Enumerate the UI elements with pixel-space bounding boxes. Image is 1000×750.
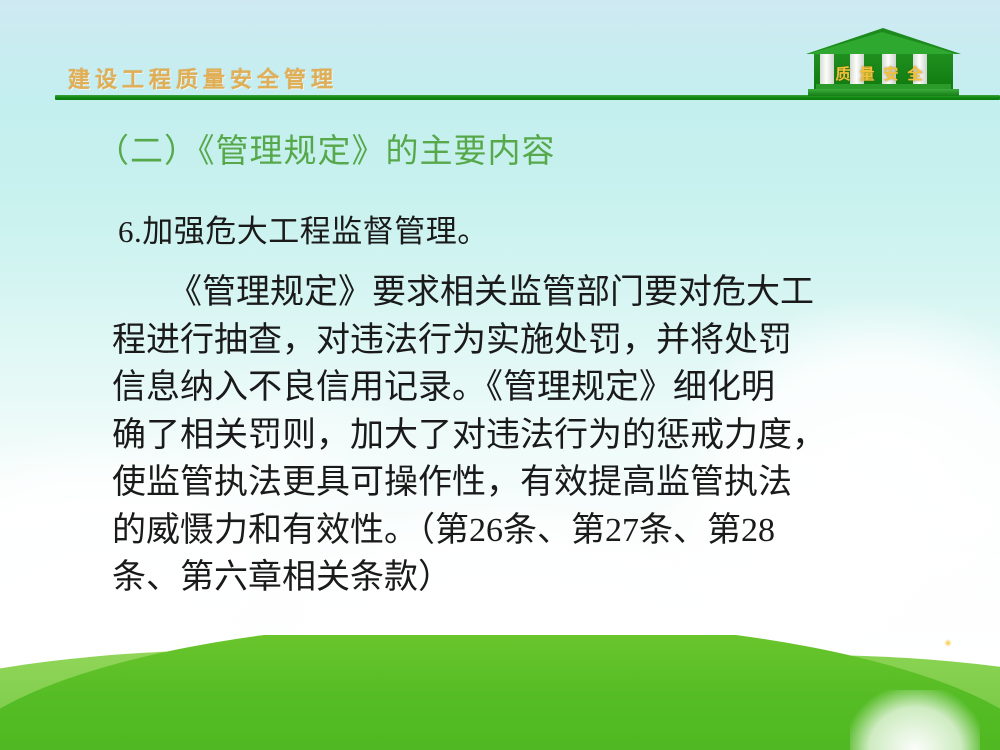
quality-safety-logo: 质量安全 — [806, 28, 961, 100]
grass-decoration — [0, 635, 1000, 750]
slide-canvas: 建设工程质量安全管理 质量安全 （二）《管理规定》的主要内容 6.加强危大工程监… — [0, 0, 1000, 750]
header-title: 建设工程质量安全管理 — [68, 62, 338, 94]
paragraph-line: 信息纳入不良信用记录。《管理规定》细化明 — [112, 364, 918, 412]
paragraph-line: 程进行抽查，对违法行为实施处罚，并将处罚 — [112, 317, 918, 365]
temple-base-icon — [808, 89, 959, 96]
body-lead-line: 6.加强危大工程监督管理。 — [112, 204, 918, 260]
paragraph-line: 使监管执法更具可操作性，有效提高监管执法 — [112, 459, 918, 507]
slide-header: 建设工程质量安全管理 质量安全 — [0, 0, 1000, 104]
slide-body: 6.加强危大工程监督管理。 《管理规定》要求相关监管部门要对危大工 程进行抽查，… — [112, 204, 918, 602]
paragraph-line: 《管理规定》要求相关监管部门要对危大工 — [112, 269, 918, 317]
paragraph-line: 的威慑力和有效性。（第26条、第27条、第28 — [112, 507, 918, 555]
paragraph-line: 条、第六章相关条款） — [112, 554, 918, 602]
section-headline: （二）《管理规定》的主要内容 — [96, 124, 556, 172]
grass-sparkle-icon — [944, 639, 952, 647]
paragraph-line: 确了相关罚则，加大了对违法行为的惩戒力度， — [112, 412, 918, 460]
logo-label: 质量安全 — [806, 63, 961, 84]
temple-roof-inner-icon — [808, 32, 957, 54]
grass-cloud-decoration — [850, 690, 980, 750]
body-paragraph: 《管理规定》要求相关监管部门要对危大工 程进行抽查，对违法行为实施处罚，并将处罚… — [112, 269, 918, 602]
